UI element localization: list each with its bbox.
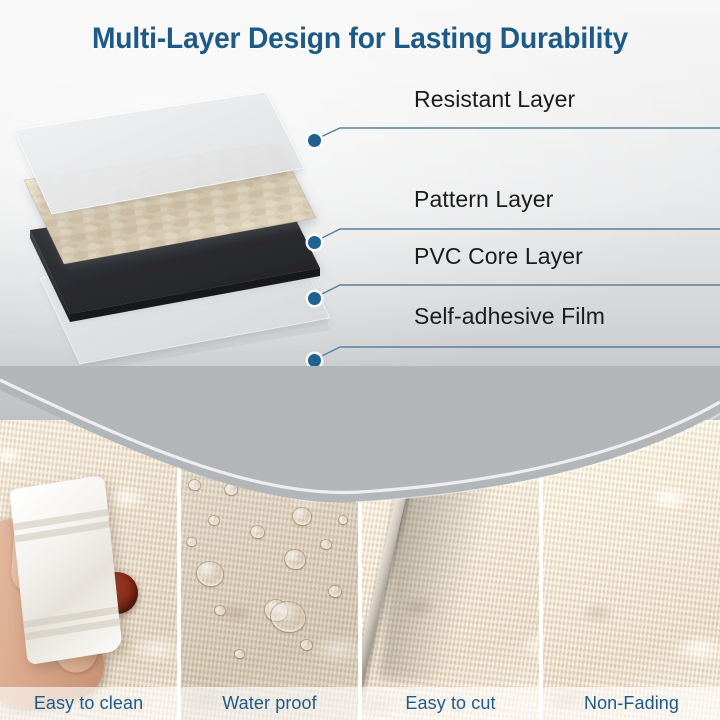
callout-dot-resistant[interactable] [308, 134, 321, 147]
feature-image-easy-to-clean [0, 420, 177, 720]
feature-image-non-fading [543, 420, 720, 720]
product-infographic: Multi-Layer Design for Lasting Durabilit… [0, 0, 720, 720]
feature-photo-strip: Easy to clean [0, 420, 720, 720]
callout-leader-line-self-adhesive [300, 300, 720, 384]
feature-caption-band-non-fading: Non-Fading [543, 687, 720, 720]
feature-caption-easy-to-cut: Easy to cut [405, 693, 495, 714]
callout-dot-self-adhesive[interactable] [308, 354, 321, 367]
feature-panel-non-fading[interactable]: Non-Fading [543, 420, 720, 720]
callout-resistant-layer[interactable]: Resistant Layer [300, 86, 720, 166]
feature-caption-non-fading: Non-Fading [584, 693, 679, 714]
feature-caption-water-proof: Water proof [222, 693, 316, 714]
feature-caption-band-water-proof: Water proof [181, 687, 358, 720]
page-title: Multi-Layer Design for Lasting Durabilit… [22, 22, 699, 56]
feature-panel-easy-to-clean[interactable]: Easy to clean [0, 420, 181, 720]
callout-leader-line-resistant [300, 86, 720, 166]
cleaning-cloth [9, 475, 122, 665]
feature-image-water-proof [181, 420, 358, 720]
callout-self-adhesive-film[interactable]: Self-adhesive Film [300, 300, 720, 384]
feature-panel-water-proof[interactable]: Water proof [181, 420, 362, 720]
feature-image-easy-to-cut [362, 420, 539, 720]
feature-caption-band-easy-to-clean: Easy to clean [0, 687, 177, 720]
hero-section: Multi-Layer Design for Lasting Durabilit… [0, 0, 720, 432]
feature-caption-band-easy-to-cut: Easy to cut [362, 687, 539, 720]
feature-caption-easy-to-clean: Easy to clean [34, 693, 143, 714]
feature-panel-easy-to-cut[interactable]: Easy to cut [362, 420, 543, 720]
